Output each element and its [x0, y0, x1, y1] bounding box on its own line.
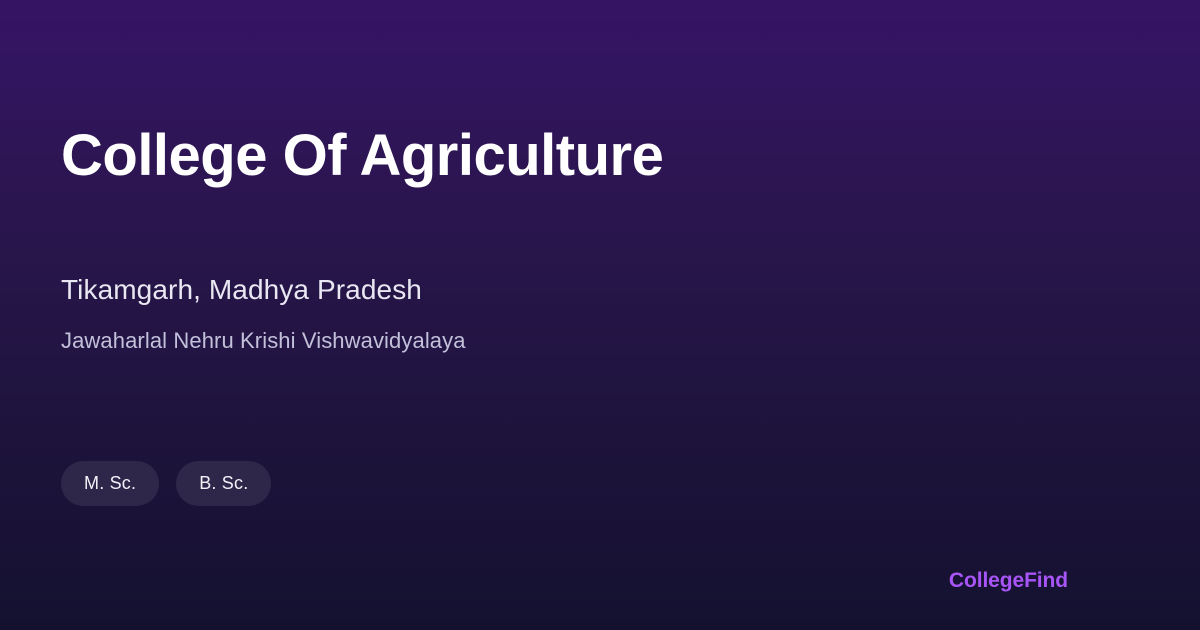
og-preview-card: College Of Agriculture Tikamgarh, Madhya… — [0, 0, 1200, 630]
degree-badge-bsc: B. Sc. — [176, 461, 271, 506]
brand-logo-text: CollegeFind — [949, 569, 1068, 593]
degree-badge-list: M. Sc. B. Sc. — [61, 461, 271, 506]
college-affiliation: Jawaharlal Nehru Krishi Vishwavidyalaya — [61, 327, 466, 355]
college-heading-block: College Of Agriculture — [61, 124, 1081, 189]
degree-badge-msc: M. Sc. — [61, 461, 159, 506]
page-title: College Of Agriculture — [61, 124, 1081, 189]
college-location: Tikamgarh, Madhya Pradesh — [61, 273, 422, 307]
